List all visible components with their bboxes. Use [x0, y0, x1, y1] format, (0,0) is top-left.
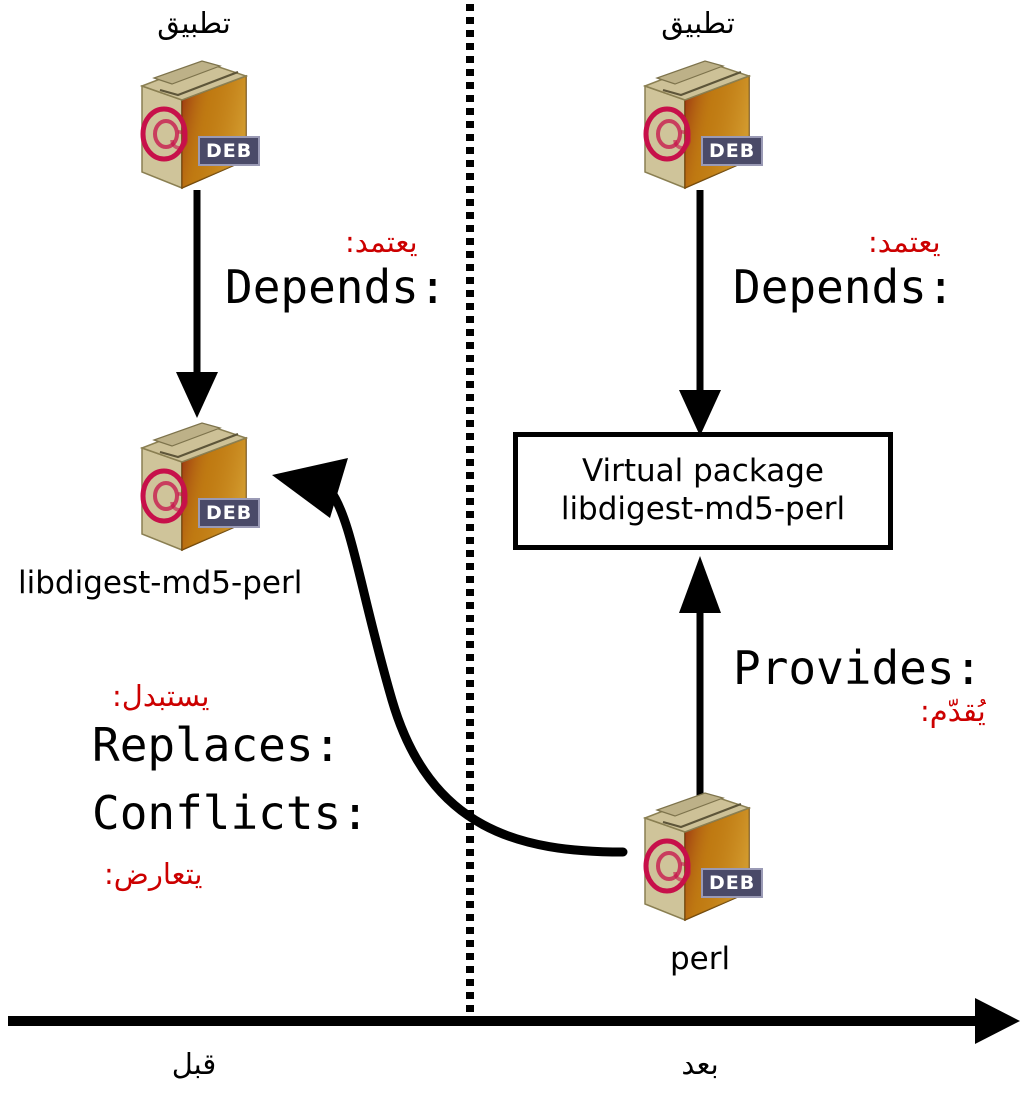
deb-badge: DEB — [198, 136, 260, 166]
package-icon-glyph — [120, 410, 270, 560]
package-icon-glyph — [120, 48, 270, 198]
left-depends-label-ar: يعتمد: — [345, 228, 418, 257]
right-depends-arrow — [679, 190, 721, 436]
left-depends-label-en: Depends: — [225, 264, 447, 310]
right-depends-label-en: Depends: — [733, 264, 955, 310]
conflicts-label-ar: يتعارض: — [104, 860, 202, 889]
virtual-package-line2: libdigest-md5-perl — [561, 491, 845, 529]
package-icon-glyph — [623, 48, 773, 198]
virtual-package-line1: Virtual package — [582, 453, 824, 491]
debian-package-icon-left-app: DEB — [120, 48, 270, 198]
deb-badge: DEB — [701, 868, 763, 898]
conflicts-label-en: Conflicts: — [92, 790, 369, 836]
debian-virtual-package-diagram: DEB DEB — [0, 0, 1024, 1095]
replaces-label-ar: يستبدل: — [112, 682, 210, 711]
right-provides-arrow — [679, 556, 721, 800]
debian-package-icon-perl: DEB — [623, 780, 773, 930]
timeline-axis-arrow — [8, 998, 1020, 1044]
provides-label-en: Provides: — [733, 645, 982, 691]
perl-label: perl — [670, 944, 730, 975]
timeline-before-label: قبل — [172, 1050, 217, 1079]
libdigest-md5-perl-label: libdigest-md5-perl — [18, 568, 302, 599]
right-app-label: تطبيق — [661, 9, 735, 38]
left-app-label: تطبيق — [157, 9, 231, 38]
package-icon-glyph — [623, 780, 773, 930]
debian-package-icon-libdigest-md5-perl: DEB — [120, 410, 270, 560]
deb-badge: DEB — [198, 498, 260, 528]
left-depends-arrow — [176, 190, 218, 418]
timeline-after-label: بعد — [681, 1050, 718, 1079]
virtual-package-box: Virtual package libdigest-md5-perl — [513, 432, 893, 550]
replaces-label-en: Replaces: — [92, 722, 341, 768]
provides-label-ar: يُقدّم: — [920, 697, 986, 726]
debian-package-icon-right-app: DEB — [623, 48, 773, 198]
right-depends-label-ar: يعتمد: — [868, 228, 941, 257]
deb-badge: DEB — [701, 136, 763, 166]
